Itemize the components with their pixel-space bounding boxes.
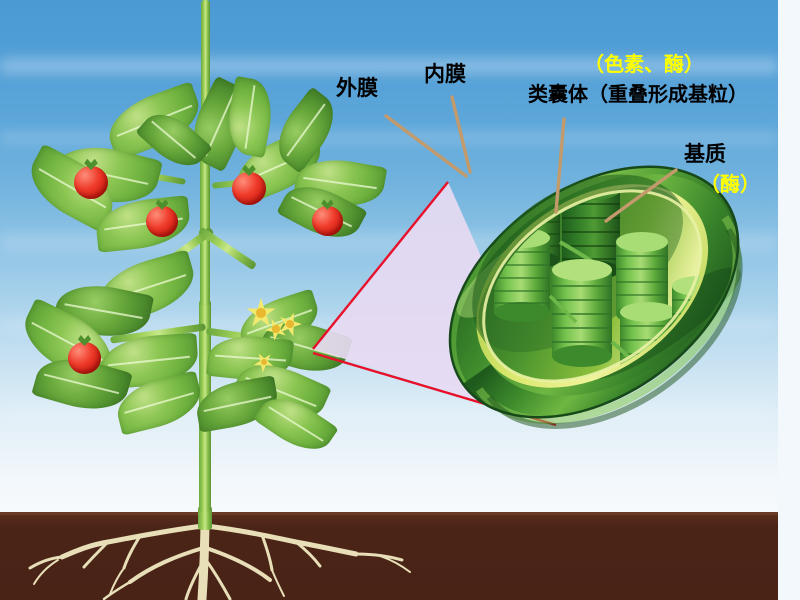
label-stroma-enzyme: （酶）	[700, 168, 760, 197]
label-stroma: 基质	[684, 138, 726, 168]
page-border-right	[778, 0, 800, 600]
label-pigment-enzyme: （色素、酶）	[584, 48, 704, 77]
diagram-canvas: 外膜 内膜 （色素、酶） 类囊体（重叠形成基粒） 基质 （酶）	[0, 0, 800, 600]
tomato-fruit	[146, 206, 178, 237]
tomato-fruit	[74, 166, 108, 199]
tomato-fruit	[232, 172, 266, 205]
granum-stack	[552, 259, 612, 367]
label-outer-membrane: 外膜	[336, 72, 378, 102]
label-inner-membrane: 内膜	[424, 58, 466, 88]
label-thylakoid: 类囊体（重叠形成基粒）	[528, 78, 748, 107]
tomato-fruit	[312, 206, 343, 236]
tomato-fruit	[68, 342, 101, 374]
